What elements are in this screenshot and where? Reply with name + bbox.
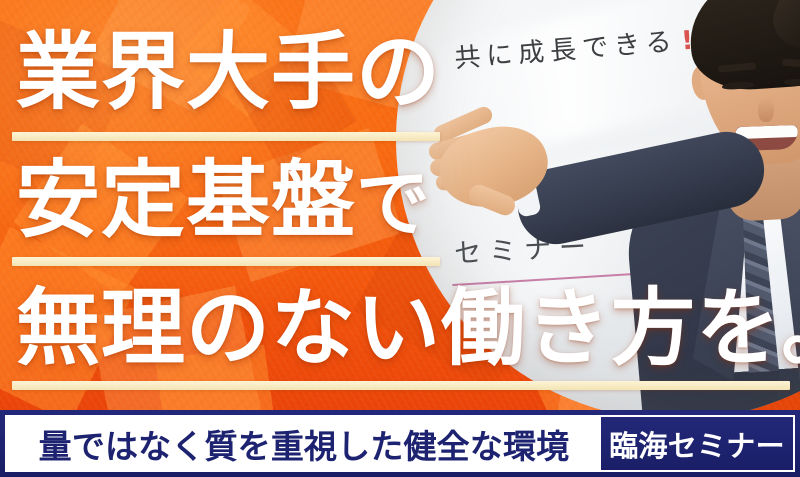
- footer-tagline-panel: 量ではなく質を重視した健全な環境: [7, 417, 601, 470]
- headline-underline-1: [12, 132, 440, 141]
- footer-bar: 量ではなく質を重視した健全な環境 臨海セミナー: [0, 410, 800, 477]
- headline-line-2-suffix: で: [356, 162, 431, 245]
- footer-inner-frame: 量ではなく質を重視した健全な環境 臨海セミナー: [5, 415, 795, 472]
- headline-line-1: 業界大手の: [16, 24, 441, 120]
- headline-underline-2: [12, 257, 440, 266]
- recruitment-banner: 共に成長できる!! セミナー: [0, 0, 800, 477]
- headline-line-2: 安定基盤で: [16, 152, 431, 252]
- headline-line-3: 無理のない働き方を。: [16, 280, 800, 376]
- footer-brand-panel: 臨海セミナー: [601, 417, 793, 470]
- brand-name: 臨海セミナー: [609, 423, 785, 465]
- footer-tagline: 量ではなく質を重視した健全な環境: [39, 420, 570, 468]
- headline-line-2-main: 安定基盤: [16, 153, 356, 247]
- headline-underline-3: [12, 381, 790, 390]
